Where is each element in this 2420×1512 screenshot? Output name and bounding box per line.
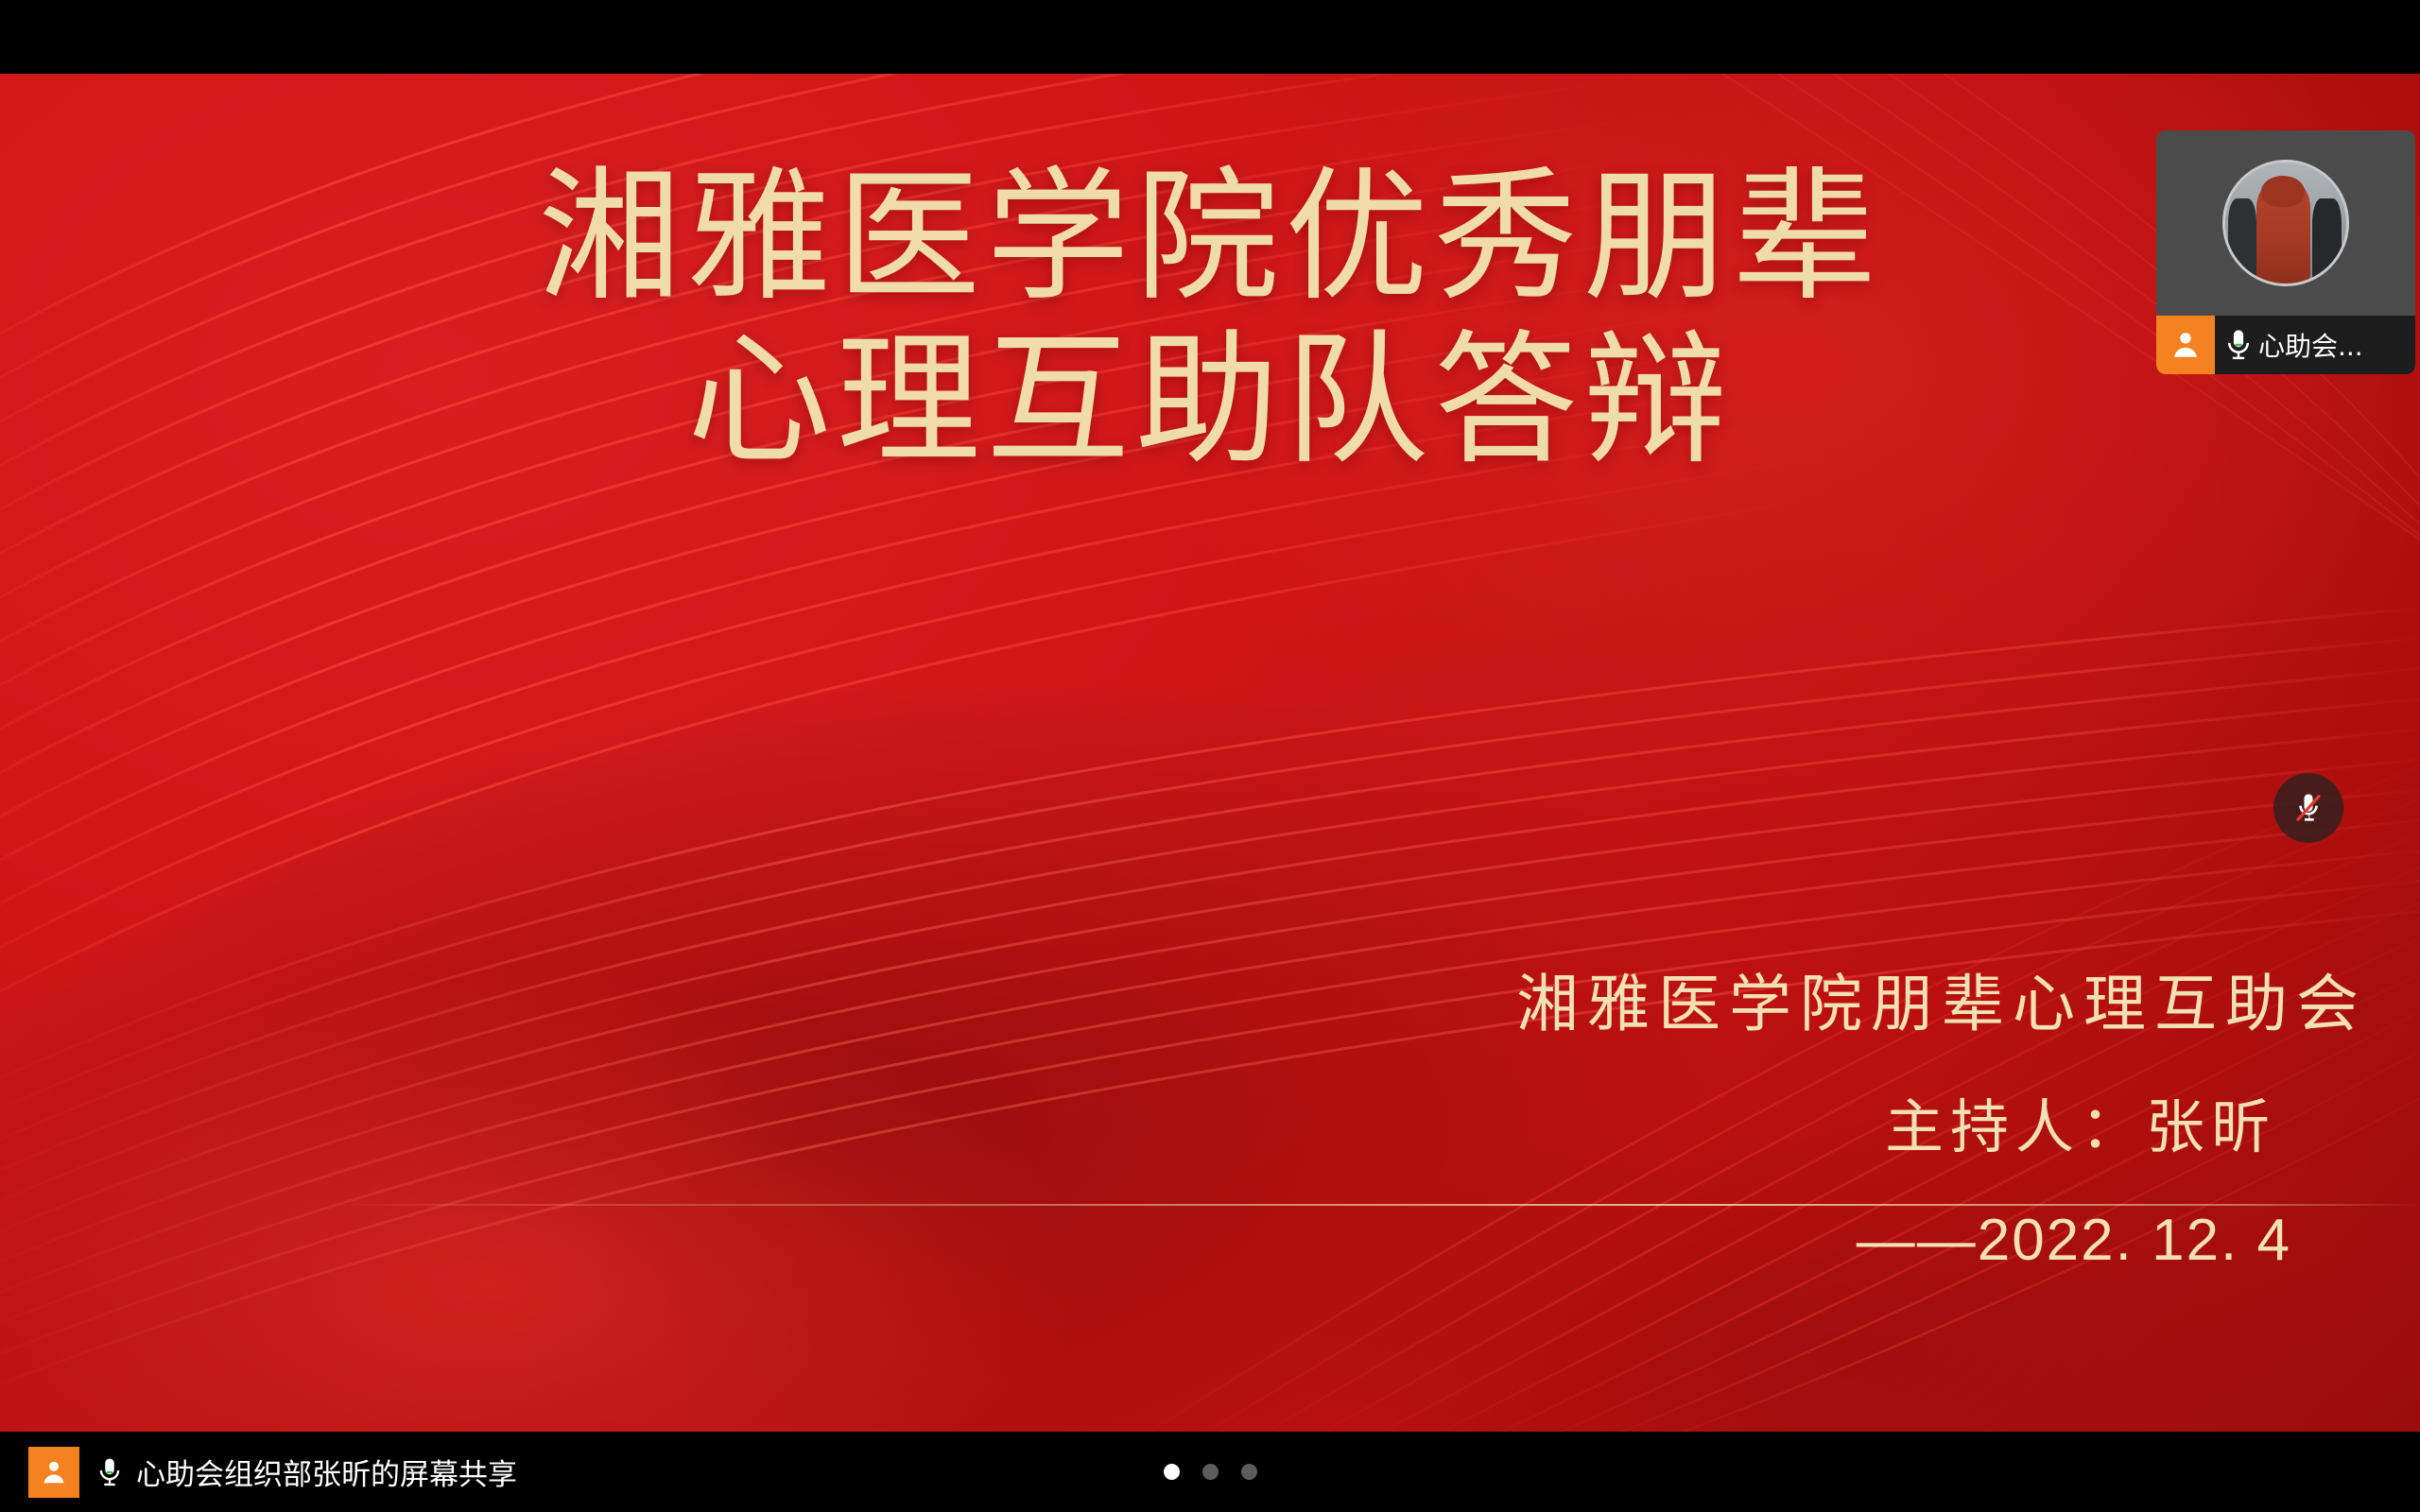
participant-name: 心助会...: [2258, 326, 2363, 364]
microphone-glyph: [2224, 328, 2253, 362]
avatar: [2222, 160, 2349, 286]
thumbnail-video-area: [2156, 130, 2415, 316]
participant-glyph: [40, 1458, 68, 1486]
microphone-glyph: [96, 1456, 123, 1488]
screen-share-status-text: 心助会组织部张昕的屏幕共享: [136, 1451, 517, 1493]
microphone-icon[interactable]: [96, 1456, 123, 1488]
slide-host: 主持人：张昕: [1516, 1098, 2367, 1157]
mute-toggle-button[interactable]: [2273, 773, 2343, 843]
microphone-icon: [2224, 328, 2253, 362]
participant-icon[interactable]: [2156, 316, 2215, 374]
slide-main-title: 湘雅医学院优秀朋辈 心理互助队答辩: [0, 155, 2420, 483]
microphone-muted-icon: [2290, 789, 2327, 827]
slide-date: ——2022. 12. 4: [1516, 1211, 2367, 1270]
participant-glyph: [2169, 329, 2202, 361]
shared-slide: 湘雅医学院优秀朋辈 心理互助队答辩 湘雅医学院朋辈心理互助会 主持人：张昕 ——…: [0, 74, 2420, 1432]
participant-icon[interactable]: [28, 1447, 79, 1498]
slide-organization: 湘雅医学院朋辈心理互助会: [1516, 973, 2367, 1036]
page-dot-3[interactable]: [1241, 1464, 1257, 1480]
bottom-toolbar: 心助会组织部张昕的屏幕共享: [0, 1432, 2420, 1512]
self-view-thumbnail[interactable]: 心助会...: [2156, 130, 2415, 374]
thumbnail-name-bar: 心助会...: [2156, 316, 2415, 374]
slide-subtitle-group: 湘雅医学院朋辈心理互助会 主持人：张昕 ——2022. 12. 4: [1516, 973, 2367, 1270]
page-dot-1[interactable]: [1164, 1464, 1180, 1480]
screen-share-viewport: 湘雅医学院优秀朋辈 心理互助队答辩 湘雅医学院朋辈心理互助会 主持人：张昕 ——…: [0, 0, 2420, 1512]
page-dot-2[interactable]: [1202, 1464, 1219, 1480]
